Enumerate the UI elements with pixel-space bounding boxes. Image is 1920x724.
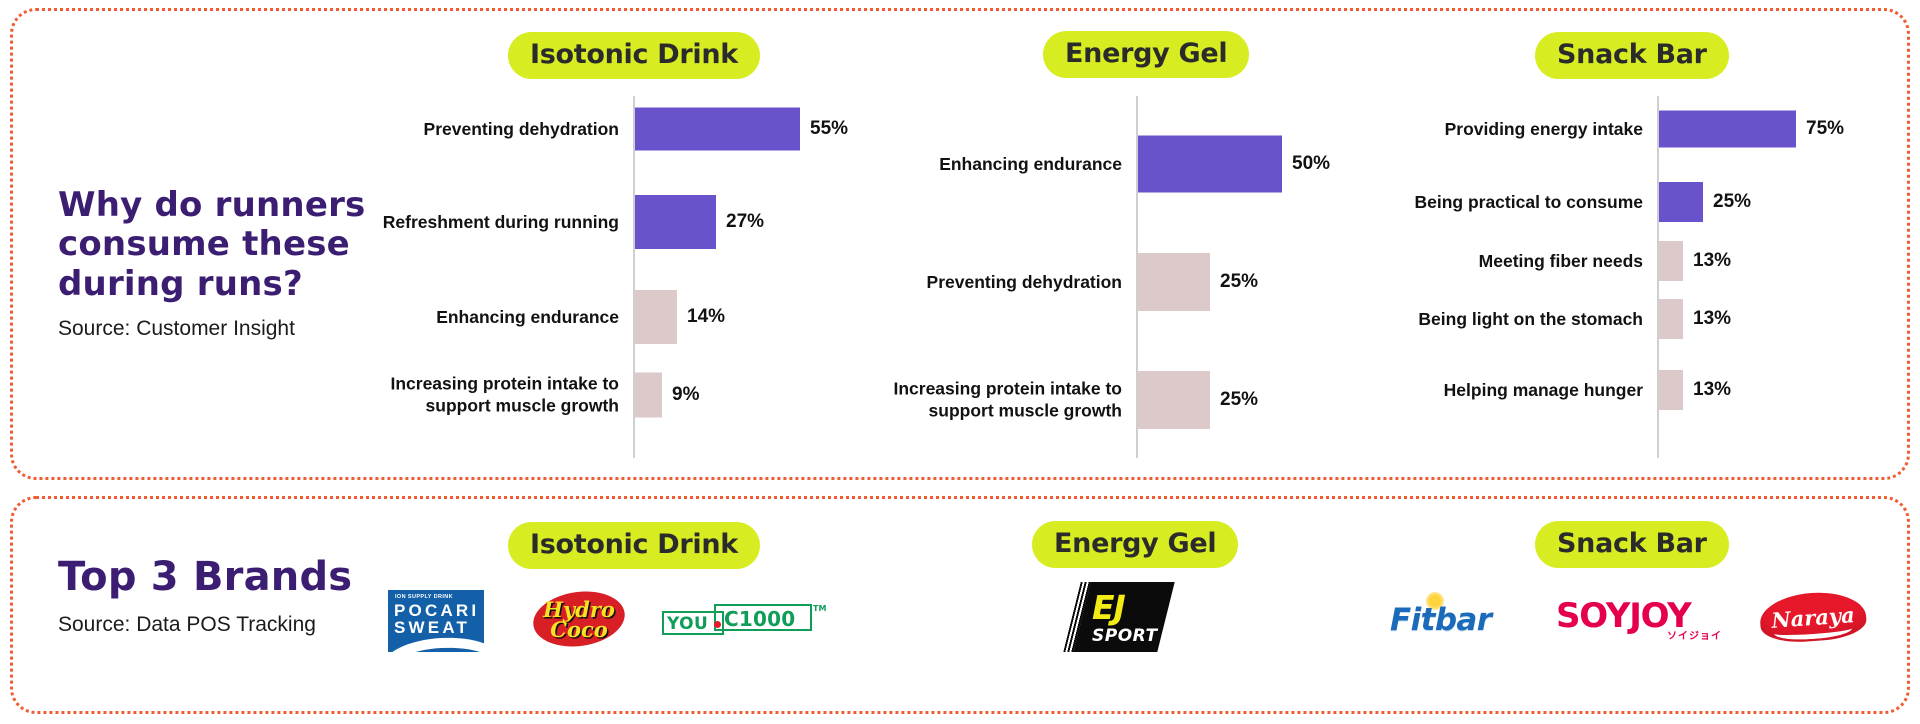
bar-value-label: 25% xyxy=(1220,389,1258,411)
chart-energy-gel: Enhancing endurance 50% Preventing dehyd… xyxy=(1136,96,1466,458)
logo-hydro-coco: Hydro Coco xyxy=(533,588,625,652)
bar-category-label: Increasing protein intake to support mus… xyxy=(852,378,1122,423)
slide-root: Why do runners consume these during runs… xyxy=(0,0,1920,724)
bar-rect xyxy=(1659,299,1683,339)
bar-category-label: Preventing dehydration xyxy=(852,271,1122,293)
soyjoy-japanese-text: ソイジョイ xyxy=(1667,627,1722,642)
bar-category-label: Being light on the stomach xyxy=(1393,308,1643,330)
chart-title-pill-snack: Snack Bar xyxy=(1535,32,1729,79)
bar-category-label: Helping manage hunger xyxy=(1393,379,1643,401)
bar-category-label: Being practical to consume xyxy=(1393,191,1643,213)
bar-rect xyxy=(1659,370,1683,410)
hydro-coco-line2: Coco xyxy=(533,619,625,640)
brands-source: Source: Data POS Tracking xyxy=(58,613,368,637)
logo-fitbar: Fitbar xyxy=(1390,594,1510,638)
youc1000-you-text: YOU xyxy=(667,614,708,634)
bar-value-label: 13% xyxy=(1693,250,1731,272)
bar-category-label: Refreshment during running xyxy=(359,211,619,233)
bar-rect xyxy=(1138,371,1210,429)
bar-value-label: 9% xyxy=(672,384,699,406)
logo-soyjoy: SOYJOY ソイジョイ xyxy=(1556,594,1724,640)
logo-you-c1000: YOU C1000 TM xyxy=(662,604,820,638)
bar-value-label: 25% xyxy=(1220,271,1258,293)
brand-title-pill-snack: Snack Bar xyxy=(1535,521,1729,568)
pocari-line2: SWEAT xyxy=(394,619,470,636)
chart-title-pill-isotonic: Isotonic Drink xyxy=(508,32,760,79)
brand-title-pill-isotonic: Isotonic Drink xyxy=(508,522,760,569)
chart-snack-bar: Providing energy intake 75% Being practi… xyxy=(1657,96,1917,458)
bar-rect xyxy=(1659,241,1683,281)
pocari-line1: POCARI xyxy=(394,602,479,619)
bar-value-label: 14% xyxy=(687,306,725,328)
bar-rect xyxy=(1659,182,1703,222)
brands-left-block: Top 3 Brands Source: Data POS Tracking xyxy=(58,554,368,637)
youc1000-trademark: TM xyxy=(813,604,826,613)
bar-rect xyxy=(635,108,800,151)
pocari-tagline: ION SUPPLY DRINK xyxy=(395,594,453,600)
youc1000-number-text: C1000 xyxy=(724,607,795,631)
bar-value-label: 50% xyxy=(1292,153,1330,175)
bar-value-label: 13% xyxy=(1693,308,1731,330)
bar-category-label: Enhancing endurance xyxy=(359,306,619,328)
bar-value-label: 25% xyxy=(1713,191,1751,213)
brands-headline: Top 3 Brands xyxy=(58,554,368,600)
bar-rect xyxy=(635,373,662,418)
logo-pocari-sweat: ION SUPPLY DRINK POCARI SWEAT xyxy=(388,590,484,652)
insight-left-block: Why do runners consume these during runs… xyxy=(58,186,368,341)
bar-value-label: 27% xyxy=(726,211,764,233)
insight-headline: Why do runners consume these during runs… xyxy=(58,186,368,304)
bar-rect xyxy=(635,195,716,249)
ej-sport-line1: EJ xyxy=(1092,588,1125,627)
bar-category-label: Increasing protein intake to support mus… xyxy=(359,373,619,418)
fitbar-text: Fitbar xyxy=(1390,602,1491,638)
chart-title-pill-gel: Energy Gel xyxy=(1043,31,1249,78)
bar-category-label: Meeting fiber needs xyxy=(1393,250,1643,272)
bar-category-label: Providing energy intake xyxy=(1393,118,1643,140)
bar-category-label: Preventing dehydration xyxy=(359,118,619,140)
insight-source: Source: Customer Insight xyxy=(58,317,368,341)
ej-sport-line2: SPORT xyxy=(1092,626,1158,646)
bar-value-label: 13% xyxy=(1693,379,1731,401)
bar-value-label: 55% xyxy=(810,118,848,140)
logo-ej-sport: EJ SPORT xyxy=(1070,582,1166,652)
bar-rect xyxy=(1659,111,1796,148)
logo-naraya: Naraya xyxy=(1760,587,1866,645)
bar-rect xyxy=(1138,136,1282,193)
bar-rect xyxy=(635,290,677,344)
youc1000-dot-icon xyxy=(714,621,721,628)
bar-category-label: Enhancing endurance xyxy=(852,153,1122,175)
bar-value-label: 75% xyxy=(1806,118,1844,140)
brand-title-pill-gel: Energy Gel xyxy=(1032,521,1238,568)
bar-rect xyxy=(1138,253,1210,311)
